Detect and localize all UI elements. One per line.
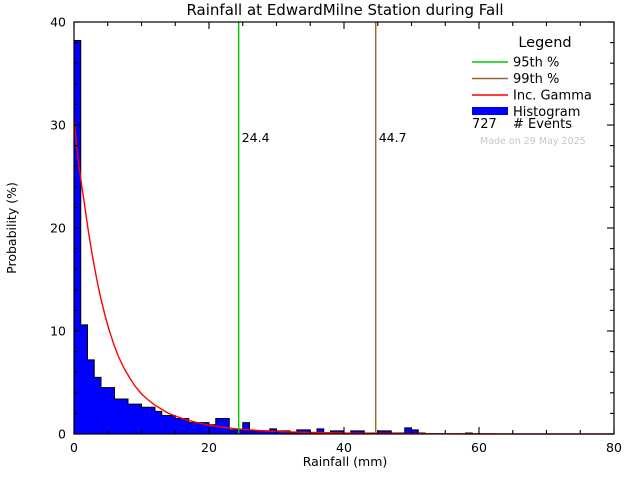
x-tick-label: 0 <box>70 440 78 455</box>
legend-entry-label: Inc. Gamma <box>513 89 592 104</box>
legend-title: Legend <box>518 35 571 51</box>
legend: Legend 95th %99th %Inc. GammaHistogram 7… <box>472 35 592 147</box>
x-tick-label: 40 <box>336 440 352 455</box>
x-axis-title: Rainfall (mm) <box>303 454 388 469</box>
y-axis-title: Probability (%) <box>4 182 19 274</box>
percentile-vlines: 24.444.7 <box>239 22 407 434</box>
rainfall-histogram-plot: Rainfall at EdwardMilne Station during F… <box>0 0 640 480</box>
event-count-value: 727 <box>472 117 497 132</box>
made-on-footnote: Made on 29 May 2025 <box>480 136 586 147</box>
legend-entry-label: 95th % <box>513 56 559 71</box>
x-tick-label: 20 <box>201 440 217 455</box>
event-count-label: # Events <box>513 117 572 132</box>
inc-gamma-fit-curve <box>74 121 614 434</box>
legend-entries: 95th %99th %Inc. GammaHistogram <box>472 56 592 121</box>
y-tick-label: 30 <box>50 118 66 133</box>
legend-entry-label: 99th % <box>513 72 559 87</box>
percentile-label: 24.4 <box>242 130 270 145</box>
y-tick-label: 40 <box>50 15 66 30</box>
chart-title: Rainfall at EdwardMilne Station during F… <box>186 1 503 19</box>
x-tick-label: 80 <box>606 440 622 455</box>
chart-container: Rainfall at EdwardMilne Station during F… <box>0 0 640 480</box>
legend-swatch <box>472 107 508 115</box>
x-tick-label: 60 <box>471 440 487 455</box>
y-tick-label: 10 <box>50 324 66 339</box>
y-tick-label: 20 <box>50 221 66 236</box>
percentile-label: 44.7 <box>379 130 407 145</box>
y-tick-label: 0 <box>58 427 66 442</box>
